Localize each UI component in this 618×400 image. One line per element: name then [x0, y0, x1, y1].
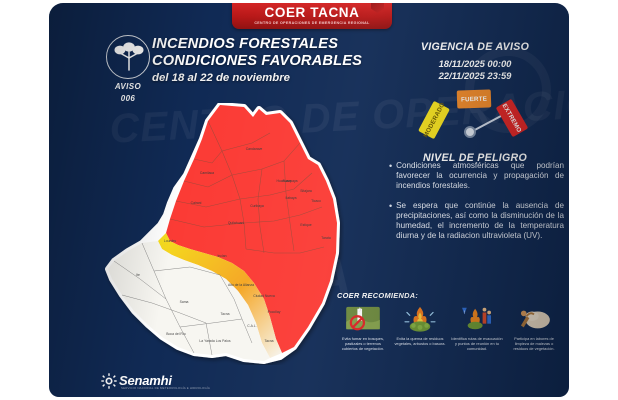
title-line-2: CONDICIONES FAVORABLES	[152, 53, 362, 69]
map-district-label: Ilabaya	[286, 196, 297, 200]
org-subtitle: CENTRO DE OPERACIONES DE EMERGENCIA REGI…	[232, 21, 392, 25]
cleanup-icon	[508, 304, 560, 334]
map-district-label: Sitajara	[300, 189, 312, 193]
aviso-label-line2: 006	[97, 94, 159, 103]
evacuation-route-icon: !	[451, 304, 503, 334]
validity-end: 22/11/2025 23:59	[387, 70, 563, 82]
validity-start: 18/11/2025 00:00	[387, 58, 563, 70]
map-district-label: Ciudad Nueva	[253, 294, 275, 298]
map-district-label: Tacna	[220, 312, 229, 316]
map-district-label: Camilaca	[200, 171, 214, 175]
recommendation-item: Participa en labores de limpieza de male…	[508, 304, 560, 351]
aviso-badge: AVISO 006	[97, 35, 159, 103]
map-district-label: Ite	[136, 273, 140, 277]
title-block: INCENDIOS FORESTALES CONDICIONES FAVORAB…	[152, 36, 362, 84]
bullet-text: Condiciones atmosféricas que podrían fav…	[396, 161, 564, 192]
tree-icon	[106, 35, 150, 79]
map-district-label: La Yarada Los Palos	[199, 339, 230, 343]
map-district-label: Tacna	[264, 339, 273, 343]
map-district-label: Ticaco	[311, 199, 321, 203]
no-smoking-icon	[337, 304, 389, 334]
tacna-hazard-map: Candarave Camilaca Huanuara Cairani Curi…	[94, 103, 344, 365]
recommendation-item: Evita la quema de residuos vegetales, ar…	[394, 304, 446, 351]
map-district-label: Estique	[300, 223, 311, 227]
recommendation-caption: Participa en labores de limpieza de male…	[508, 336, 560, 351]
map-district-label: C.A.L.	[247, 324, 256, 328]
map-district-label: Lourdes	[164, 239, 176, 243]
map-district-label: Inclan	[217, 254, 226, 258]
validity-heading: VIGENCIA DE AVISO	[387, 41, 563, 53]
map-district-label: Quilahuani	[228, 221, 244, 225]
danger-gauge: MODERADO FUERTE EXTREMO	[415, 91, 535, 147]
map-district-label: Sama	[180, 300, 189, 304]
bullet-item: • Se espera que continúe la ausencia de …	[389, 201, 564, 242]
map-district-label: Curibaya	[250, 204, 264, 208]
recommendation-caption: Identifica rutas de evacuación y puntos …	[451, 336, 503, 351]
aviso-label-line1: AVISO	[97, 82, 159, 91]
map-district-label: Pocollay	[268, 310, 281, 314]
map-district-label: Susapaya	[282, 179, 297, 183]
gauge-segment-fuerte: FUERTE	[457, 89, 492, 108]
coer-banner: COER TACNA CENTRO DE OPERACIONES DE EMER…	[232, 3, 392, 29]
map-district-label: Cairani	[191, 201, 202, 205]
gauge-segment-moderado: MODERADO	[418, 101, 450, 139]
recommendation-caption: Evita la quema de residuos vegetales, ar…	[394, 336, 446, 346]
title-subtitle: del 18 al 22 de noviembre	[152, 72, 362, 84]
recommendation-item: Evita fumar en bosques, pastizales o ter…	[337, 304, 389, 351]
gauge-segment-extremo: EXTREMO	[496, 99, 529, 137]
recommendation-item: ! Identifica rutas de evacuación y punto…	[451, 304, 503, 351]
recommendation-caption: Evita fumar en bosques, pastizales o ter…	[337, 336, 389, 351]
svg-text:!: !	[464, 309, 465, 314]
map-district-label: Alto de la Alianza	[228, 283, 254, 287]
burning-waste-icon	[394, 304, 446, 334]
map-district-label: Boca del Río	[166, 332, 185, 336]
bullet-list: • Condiciones atmosféricas que podrían f…	[389, 161, 564, 250]
org-name: COER TACNA	[232, 6, 392, 19]
validity-block: VIGENCIA DE AVISO 18/11/2025 00:00 22/11…	[387, 41, 563, 164]
map-district-label: Candarave	[246, 147, 263, 151]
sun-icon	[101, 373, 116, 388]
title-line-1: INCENDIOS FORESTALES	[152, 36, 362, 52]
senamhi-tagline: SERVICIO NACIONAL DE METEOROLOGÍA E HIDR…	[121, 386, 210, 390]
map-district-label: Tarata	[321, 236, 330, 240]
gauge-hub	[464, 126, 476, 138]
alert-poster: CENTRO DE OPERACIONES DE EMERGENCIA TACN…	[49, 3, 569, 397]
bullet-text: Se espera que continúe la ausencia de pr…	[396, 201, 564, 242]
senamhi-logo: Senamhi SERVICIO NACIONAL DE METEOROLOGÍ…	[101, 367, 211, 393]
recommendations-heading: COER RECOMIENDA:	[337, 291, 565, 300]
bullet-item: • Condiciones atmosféricas que podrían f…	[389, 161, 564, 192]
bullet-dot-icon: •	[389, 201, 392, 242]
recommendations-block: COER RECOMIENDA: Evita fumar en bosques,…	[337, 291, 565, 351]
bullet-dot-icon: •	[389, 161, 392, 192]
